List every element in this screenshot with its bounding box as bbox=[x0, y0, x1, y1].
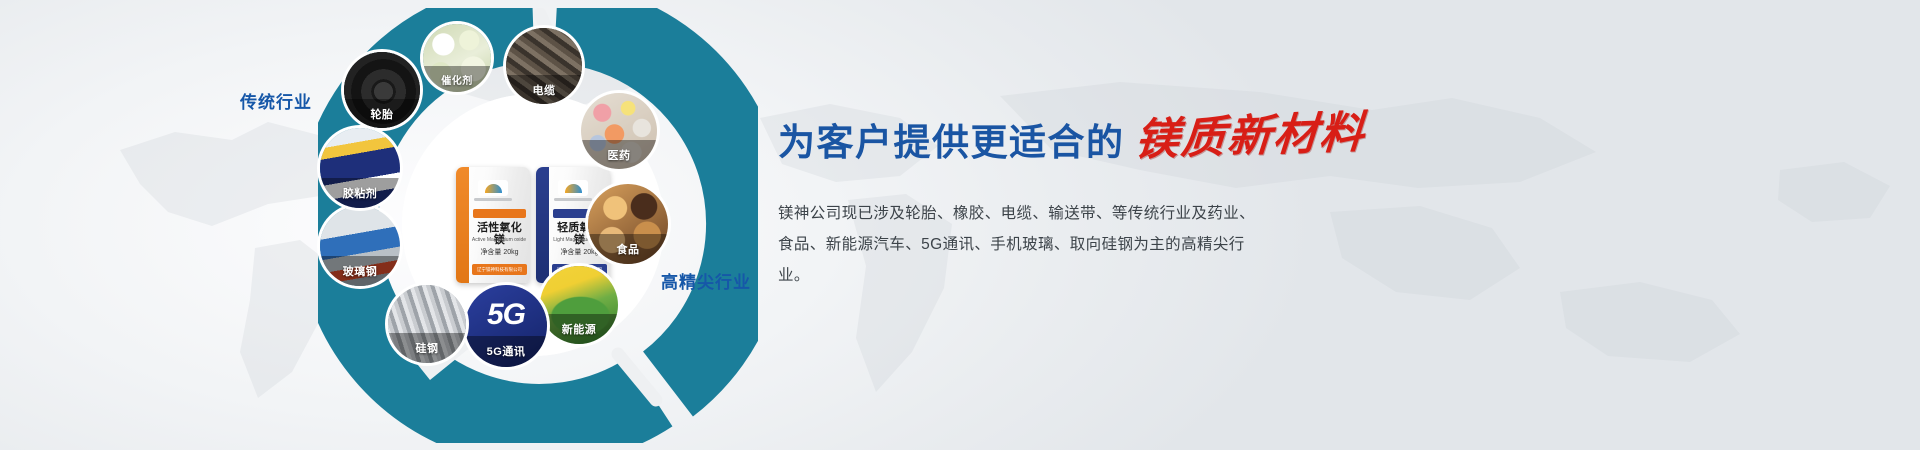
industry-node-label: 新能源 bbox=[540, 314, 618, 344]
product-name-en: Active Magnesium oxide bbox=[470, 237, 528, 243]
industry-circle-diagram: 活性氧化镁 Active Magnesium oxide 净含量 20kg 辽宁… bbox=[318, 8, 758, 443]
brand-name-line bbox=[474, 198, 512, 201]
industry-node-catalyst[interactable]: 催化剂 bbox=[423, 24, 491, 92]
sun-arc-icon bbox=[485, 184, 502, 193]
headline-red-calligraphy: 镁质新材料 bbox=[1133, 96, 1368, 168]
bag-side-panel bbox=[456, 167, 469, 283]
industry-node-label: 医药 bbox=[581, 140, 657, 169]
industry-node-label: 玻璃钢 bbox=[320, 256, 400, 286]
product-company-name: 辽宁镁神科技有限公司 bbox=[472, 264, 527, 275]
industry-node-label: 轮胎 bbox=[344, 99, 420, 128]
banner-description-paragraph: 镁神公司现已涉及轮胎、橡胶、电缆、输送带、等传统行业及药业、食品、新能源汽车、5… bbox=[778, 198, 1270, 291]
label-high-tech-industries: 高精尖行业 bbox=[661, 268, 751, 293]
brand-name-line bbox=[554, 198, 592, 201]
industry-node-food[interactable]: 食品 bbox=[588, 184, 668, 264]
bag-color-strip bbox=[473, 209, 526, 218]
industry-node-label: 5G通讯 bbox=[465, 336, 547, 367]
industry-node-silicon-steel[interactable]: 硅钢 bbox=[388, 285, 466, 363]
industry-node-label: 食品 bbox=[588, 234, 668, 264]
industry-node-new-energy[interactable]: 新能源 bbox=[540, 266, 618, 344]
industry-node-label: 电缆 bbox=[506, 75, 582, 104]
brand-logo-icon bbox=[478, 180, 508, 196]
industry-node-label: 胶粘剂 bbox=[320, 178, 400, 208]
industry-node-cable[interactable]: 电缆 bbox=[506, 28, 582, 104]
label-traditional-industries: 传统行业 bbox=[240, 88, 312, 113]
product-net-weight: 净含量 20kg bbox=[472, 247, 527, 257]
banner-headline: 为客户提供更适合的 镁质新材料 bbox=[778, 104, 1538, 168]
industry-node-medicine[interactable]: 医药 bbox=[581, 93, 657, 169]
sun-arc-icon bbox=[565, 184, 582, 193]
industry-node-tire[interactable]: 轮胎 bbox=[344, 52, 420, 128]
headline-blue-text: 为客户提供更适合的 bbox=[778, 112, 1125, 166]
industry-node-label: 催化剂 bbox=[423, 66, 491, 92]
banner-copy-block: 为客户提供更适合的 镁质新材料 镁神公司现已涉及轮胎、橡胶、电缆、输送带、等传统… bbox=[778, 104, 1538, 291]
industry-node-5g[interactable]: 5G通讯 bbox=[465, 285, 547, 367]
promo-banner: 活性氧化镁 Active Magnesium oxide 净含量 20kg 辽宁… bbox=[0, 0, 1920, 450]
product-bag-active-mgo: 活性氧化镁 Active Magnesium oxide 净含量 20kg 辽宁… bbox=[456, 167, 530, 283]
industry-node-adhesive[interactable]: 胶粘剂 bbox=[320, 128, 400, 208]
industry-node-frp[interactable]: 玻璃钢 bbox=[320, 206, 400, 286]
industry-node-label: 硅钢 bbox=[388, 333, 466, 363]
brand-logo-icon bbox=[558, 180, 588, 196]
